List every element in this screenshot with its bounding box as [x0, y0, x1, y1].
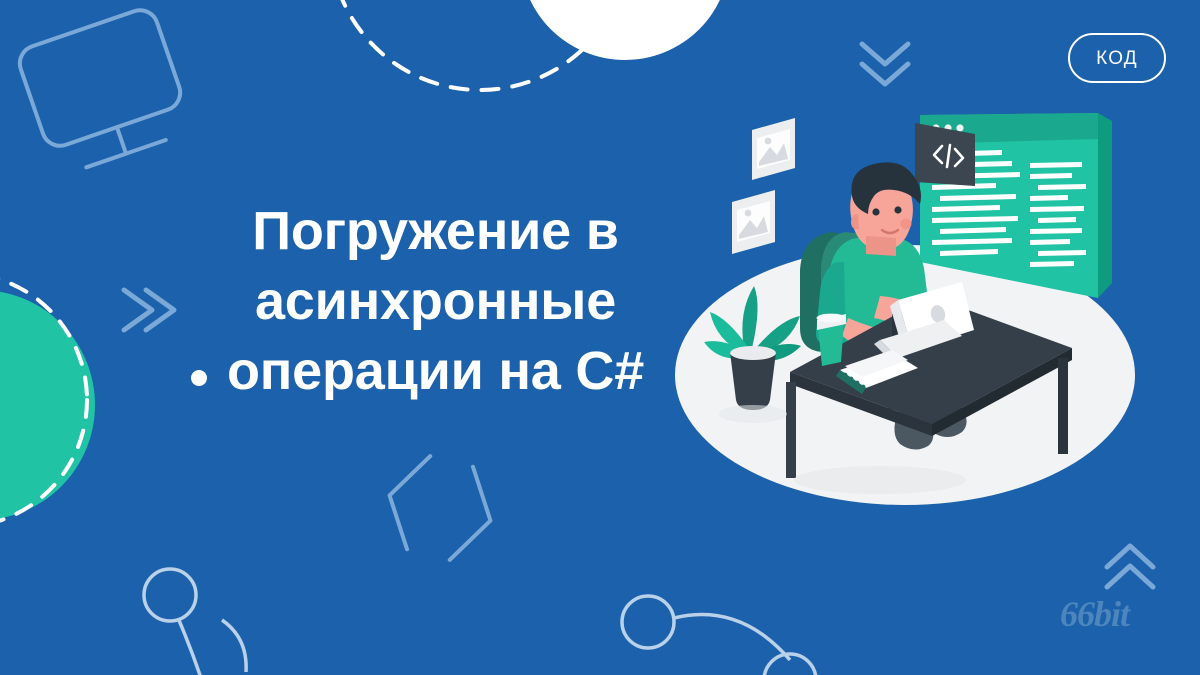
title-slide: КОД Погружение в асинхронные операции на… [0, 0, 1200, 675]
brand-logo: 66bit [1060, 596, 1129, 632]
title-line-3: операции на C# [118, 336, 753, 406]
desk-leg-right [1058, 358, 1068, 454]
page-title: Погружение в асинхронные операции на C# [118, 196, 753, 406]
picture-frame-upper [752, 118, 795, 180]
title-line-1: Погружение в [118, 196, 753, 266]
code-badge[interactable]: КОД [1068, 33, 1166, 83]
desk-leg-front [786, 382, 796, 478]
code-tag-badge [915, 123, 975, 186]
desk-shadow [794, 466, 966, 494]
title-line-2: асинхронные [118, 266, 753, 336]
eye-right [894, 206, 901, 213]
code-badge-label: КОД [1096, 49, 1138, 68]
eye-left [872, 208, 879, 215]
